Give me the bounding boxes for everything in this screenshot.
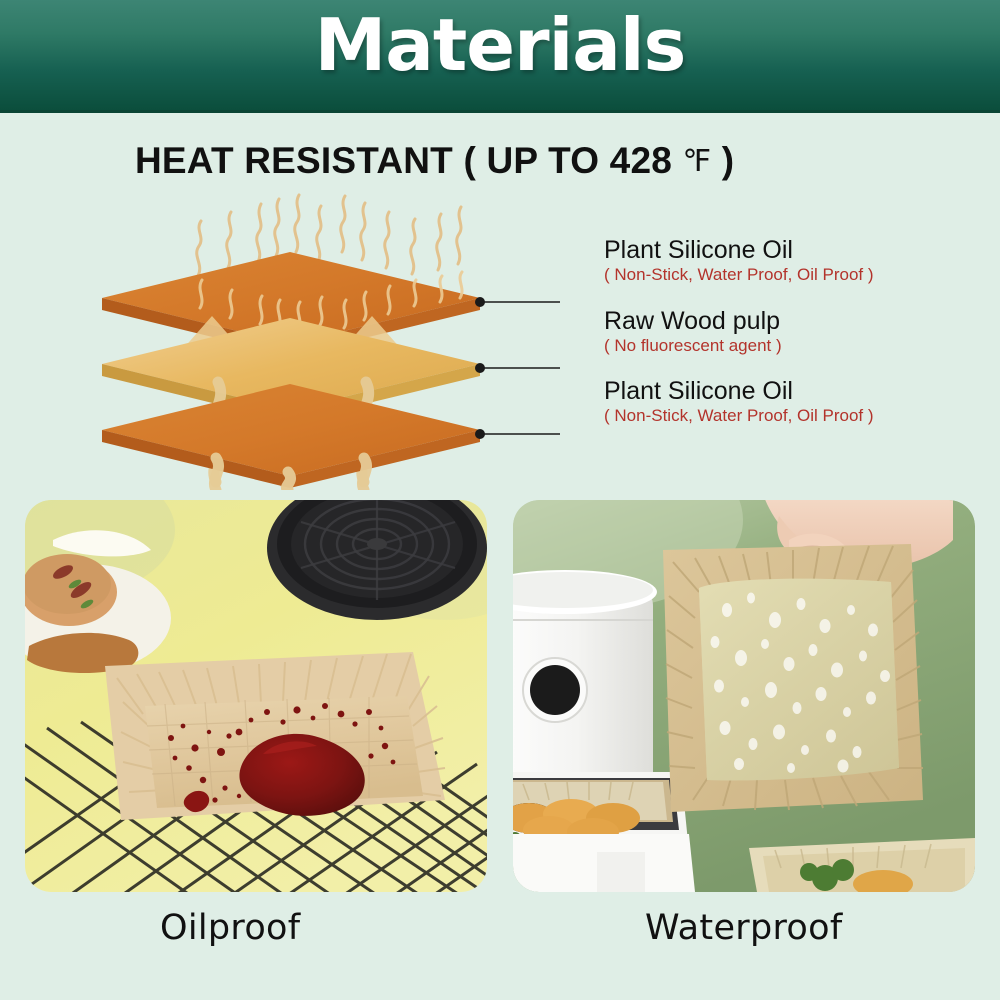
caption-oilproof: Oilproof [160, 908, 300, 948]
heat-resistant-headline: HEAT RESISTANT ( UP TO 428 ℉ ) [135, 140, 734, 182]
header-banner: Materials [0, 0, 1000, 113]
callout-layer-2: Raw Wood pulp ( No fluorescent agent ) [604, 307, 944, 356]
callout-subtitle: ( Non-Stick, Water Proof, Oil Proof ) [604, 265, 944, 285]
headline-suffix: ) [711, 140, 734, 181]
layer-diagram [100, 190, 560, 490]
callout-layer-1: Plant Silicone Oil ( Non-Stick, Water Pr… [604, 236, 944, 285]
callout-title: Plant Silicone Oil [604, 236, 944, 264]
callout-subtitle: ( No fluorescent agent ) [604, 336, 944, 356]
callout-subtitle: ( Non-Stick, Water Proof, Oil Proof ) [604, 406, 944, 426]
waterproof-liner [663, 544, 923, 812]
parchment-liner [105, 652, 445, 820]
callout-leader-lines [475, 297, 560, 439]
oilproof-photo [25, 500, 487, 892]
callout-title: Raw Wood pulp [604, 307, 944, 335]
callout-title: Plant Silicone Oil [604, 377, 944, 405]
page-title: Materials [0, 8, 1000, 84]
material-callouts: Plant Silicone Oil ( Non-Stick, Water Pr… [604, 236, 944, 440]
caption-waterproof: Waterproof [645, 908, 842, 948]
degree-fahrenheit-symbol: ℉ [682, 145, 711, 178]
photo-row [0, 500, 1000, 895]
headline-prefix: HEAT RESISTANT ( UP TO 428 [135, 140, 682, 181]
waterproof-photo [513, 500, 975, 892]
callout-layer-3: Plant Silicone Oil ( Non-Stick, Water Pr… [604, 377, 944, 426]
infographic-page: Materials HEAT RESISTANT ( UP TO 428 ℉ ) [0, 0, 1000, 1000]
